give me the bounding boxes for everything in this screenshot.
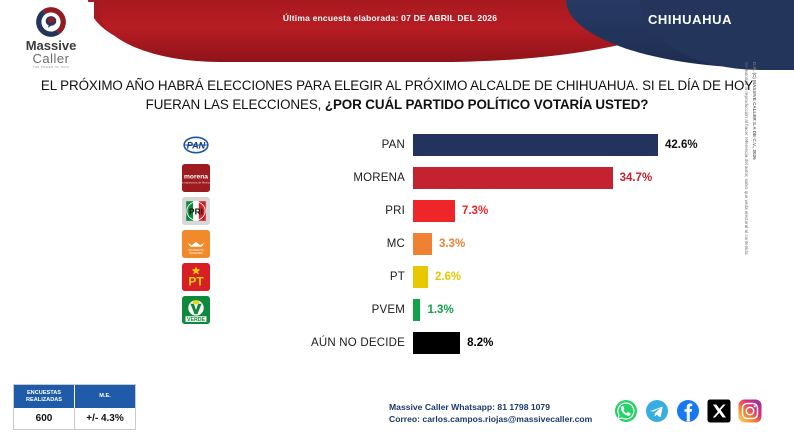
chart-category-label: PAN [243, 130, 405, 160]
chart-bar [413, 200, 455, 222]
chart-row: morenala esperanza de MéxicoMORENA34.7% [0, 163, 794, 196]
chart-row: AÚN NO DECIDE8.2% [0, 328, 794, 361]
brand-logo: Massive Caller THE POWER OF DATA [8, 2, 94, 70]
instagram-icon[interactable] [738, 399, 762, 423]
chart-bar-value: 2.6% [435, 271, 461, 283]
chart-row: PANPAN42.6% [0, 130, 794, 163]
telegram-icon[interactable] [645, 399, 669, 423]
svg-text:VERDE: VERDE [187, 317, 206, 323]
question-line-2-regular: FUERAN LAS ELECCIONES, [146, 97, 325, 112]
stats-value-sample: 600 [14, 408, 75, 429]
header-navy-curve [640, 0, 794, 70]
chart-bar-value: 7.3% [462, 205, 488, 217]
party-logo-pvem: VERDE [176, 295, 216, 325]
survey-date-text: Última encuesta elaborada: 07 DE ABRIL D… [180, 13, 600, 23]
stats-value-margin: +/- 4.3% [75, 408, 135, 429]
contact-whatsapp: Massive Caller Whatsapp: 81 1798 1079 [389, 401, 629, 413]
stats-header-sample: ENCUESTAS REALIZADAS [14, 385, 75, 408]
poll-bar-chart: PANPAN42.6%morenala esperanza de MéxicoM… [0, 130, 794, 362]
party-logo-pri: PRI [176, 196, 216, 226]
chart-bar-value: 3.3% [439, 238, 465, 250]
svg-text:PAN: PAN [187, 141, 206, 151]
pt-logo-icon: PT [182, 263, 210, 291]
pri-logo-icon: PRI [182, 197, 210, 225]
survey-stats-table: ENCUESTAS REALIZADAS M.E. 600 +/- 4.3% [13, 384, 136, 430]
svg-text:CIUDADANO: CIUDADANO [189, 252, 203, 255]
pvem-logo-icon: VERDE [182, 296, 210, 324]
chart-bar-value: 42.6% [665, 139, 698, 151]
svg-text:PRI: PRI [189, 207, 203, 217]
chart-bar [413, 233, 432, 255]
question-line-1: EL PRÓXIMO AÑO HABRÁ ELECCIONES PARA ELE… [41, 78, 753, 93]
stats-header-margin: M.E. [75, 385, 135, 408]
chart-row: MOVIMIENTOCIUDADANOMC3.3% [0, 229, 794, 262]
chart-row: PRIPRI7.3% [0, 196, 794, 229]
chart-bar [413, 332, 460, 354]
chart-bar-group: 34.7% [413, 163, 652, 193]
chart-category-label: AÚN NO DECIDE [243, 328, 405, 358]
stats-header-row: ENCUESTAS REALIZADAS M.E. [14, 385, 135, 408]
stats-value-row: 600 +/- 4.3% [14, 408, 135, 429]
chart-category-label: PT [243, 262, 405, 292]
whatsapp-icon[interactable] [614, 399, 638, 423]
party-logo-pt: PT [176, 262, 216, 292]
svg-text:morena: morena [184, 174, 208, 181]
logo-word-caller: Caller [33, 52, 70, 65]
svg-text:la esperanza de México: la esperanza de México [182, 181, 210, 185]
chart-row: VERDEPVEM1.3% [0, 295, 794, 328]
party-logo-pan: PAN [176, 130, 216, 160]
chart-bar-value: 1.3% [427, 304, 453, 316]
copyright-notice: D.R. (C) MASSIVE CALLER S.A DE C.V., 202… [732, 62, 758, 362]
social-links [614, 396, 784, 426]
x-twitter-icon[interactable] [707, 399, 731, 423]
contact-info: Massive Caller Whatsapp: 81 1798 1079 Co… [389, 401, 629, 425]
copyright-line-1: D.R. (C) MASSIVE CALLER S.A DE C.V., 202… [750, 62, 758, 362]
morena-logo-icon: morenala esperanza de México [182, 164, 210, 192]
chart-bar-group: 1.3% [413, 295, 454, 325]
chart-bar-group: 7.3% [413, 196, 488, 226]
chart-bar-value: 34.7% [620, 172, 653, 184]
chart-row: PTPT2.6% [0, 262, 794, 295]
question-line-2-bold: ¿POR CUÁL PARTIDO POLÍTICO VOTARÍA USTED… [325, 97, 648, 112]
contact-email: Correo: carlos.campos.riojas@massivecall… [389, 413, 629, 425]
chart-bar-group: 2.6% [413, 262, 461, 292]
chart-category-label: MC [243, 229, 405, 259]
chart-category-label: PRI [243, 196, 405, 226]
facebook-icon[interactable] [676, 399, 700, 423]
party-logo-morena: morenala esperanza de México [176, 163, 216, 193]
chart-bar [413, 299, 420, 321]
chart-bar [413, 266, 428, 288]
chart-category-label: PVEM [243, 295, 405, 325]
massive-caller-logo-icon [34, 5, 68, 39]
pan-logo-icon: PAN [182, 131, 210, 159]
chart-bar-group: 8.2% [413, 328, 493, 358]
chart-bar [413, 167, 613, 189]
svg-text:PT: PT [188, 274, 204, 288]
logo-tagline: THE POWER OF DATA [33, 65, 70, 69]
poll-question: EL PRÓXIMO AÑO HABRÁ ELECCIONES PARA ELE… [28, 76, 766, 114]
header-banner: Última encuesta elaborada: 07 DE ABRIL D… [0, 0, 794, 72]
copyright-line-2: Se autoriza la reproducción al hacer ref… [742, 62, 750, 362]
mc-logo-icon: MOVIMIENTOCIUDADANO [182, 230, 210, 258]
chart-bar-group: 3.3% [413, 229, 465, 259]
state-name-label: CHIHUAHUA [600, 12, 780, 27]
party-logo-mc: MOVIMIENTOCIUDADANO [176, 229, 216, 259]
chart-bar-group: 42.6% [413, 130, 698, 160]
chart-bar [413, 134, 658, 156]
chart-category-label: MORENA [243, 163, 405, 193]
chart-bar-value: 8.2% [467, 337, 493, 349]
